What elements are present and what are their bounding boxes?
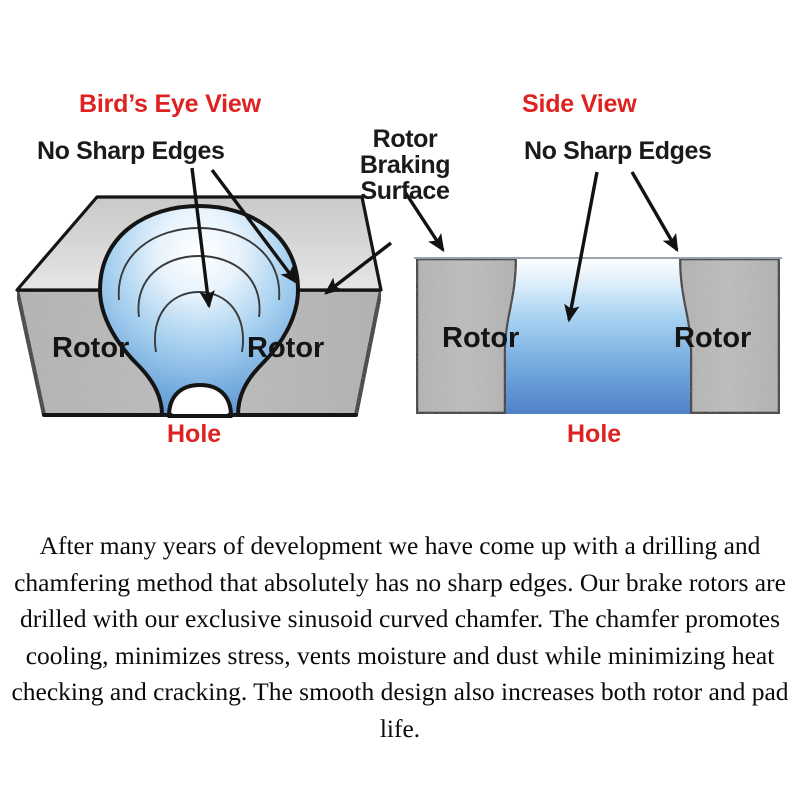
rotor-braking-surface-line-1: Rotor xyxy=(345,126,465,152)
sideview-no-sharp-edges-label: No Sharp Edges xyxy=(524,138,712,164)
sideview-rotor-label-left: Rotor xyxy=(442,322,519,355)
birdseye-no-sharp-edges-label: No Sharp Edges xyxy=(37,138,225,164)
rotor-braking-surface-line-2: Braking xyxy=(345,152,465,178)
birdseye-block xyxy=(17,168,391,416)
sideview-hole-gap xyxy=(506,258,690,414)
sideview-block xyxy=(405,172,782,414)
birdseye-hole-mouth xyxy=(169,385,231,416)
birdseye-title: Bird’s Eye View xyxy=(79,90,261,119)
sideview-title: Side View xyxy=(522,90,636,119)
rotor-braking-surface-line-3: Surface xyxy=(345,178,465,204)
description-paragraph: After many years of development we have … xyxy=(8,528,792,747)
birdseye-rotor-label-right: Rotor xyxy=(247,332,324,365)
birdseye-rotor-label-left: Rotor xyxy=(52,332,129,365)
sideview-rotor-label-right: Rotor xyxy=(674,322,751,355)
rotor-braking-surface-label: Rotor Braking Surface xyxy=(345,126,465,204)
birdseye-hole-label: Hole xyxy=(167,420,221,449)
diagram-page: Bird’s Eye View Side View No Sharp Edges… xyxy=(0,0,800,800)
arrow-side-no-sharp-edges-right xyxy=(632,172,677,250)
sideview-hole-label: Hole xyxy=(567,420,621,449)
